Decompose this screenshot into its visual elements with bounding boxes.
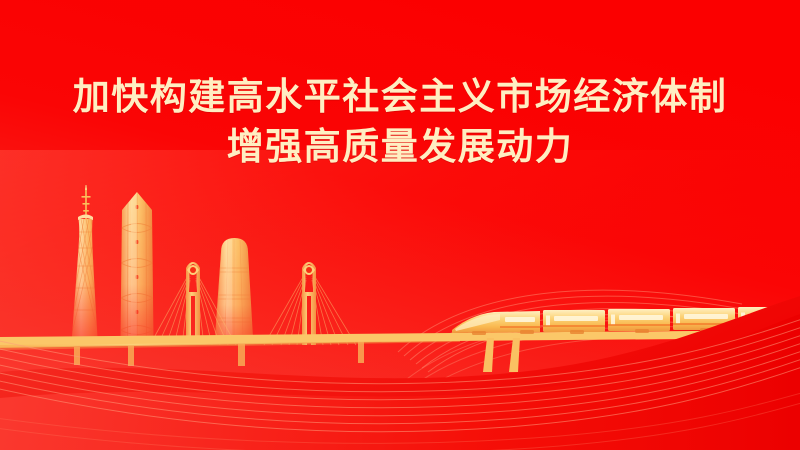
artwork-layer	[0, 0, 800, 450]
bridge-pylon-left	[186, 262, 200, 345]
poster-canvas: 加快构建高水平社会主义市场经济体制 增强高质量发展动力	[0, 0, 800, 450]
pylon-right-eye	[306, 267, 312, 273]
ping-an-finance-center	[121, 192, 154, 337]
canton-tower	[56, 181, 113, 337]
pylon-left-eye	[190, 267, 196, 273]
pylon-left-legs	[186, 268, 200, 345]
canton-tower-antenna	[82, 181, 91, 220]
bridge-pylon-right	[302, 262, 316, 345]
pylon-right-legs	[302, 268, 316, 345]
